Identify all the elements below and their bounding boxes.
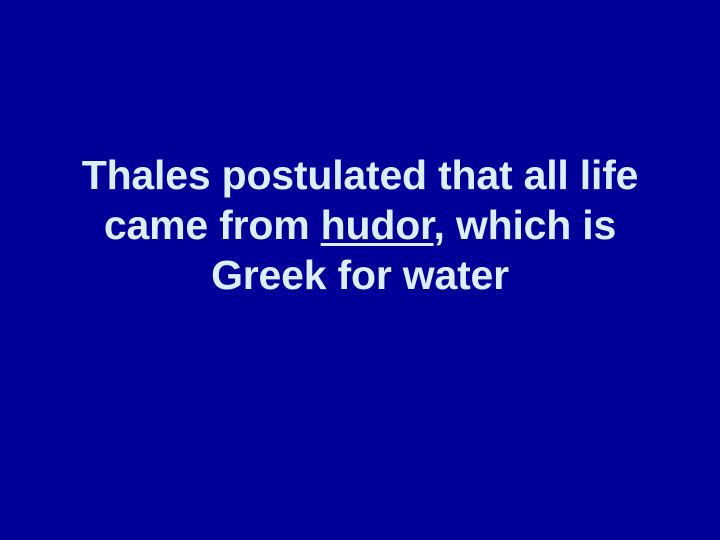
slide-text-block: Thales postulated that all life came fro…: [30, 150, 690, 300]
slide-text-line-1: Thales postulated that all life: [30, 150, 690, 200]
slide-text-line-2: came from hudor, which is: [30, 200, 690, 250]
slide-line2-emphasized-term: hudor: [321, 202, 434, 248]
slide-text-line-3: Greek for water: [30, 250, 690, 300]
slide-content-area: Thales postulated that all life came fro…: [0, 0, 720, 540]
slide-line2-suffix: , which is: [434, 202, 617, 248]
presentation-slide: Thales postulated that all life came fro…: [0, 0, 720, 540]
slide-line2-prefix: came from: [104, 202, 321, 248]
